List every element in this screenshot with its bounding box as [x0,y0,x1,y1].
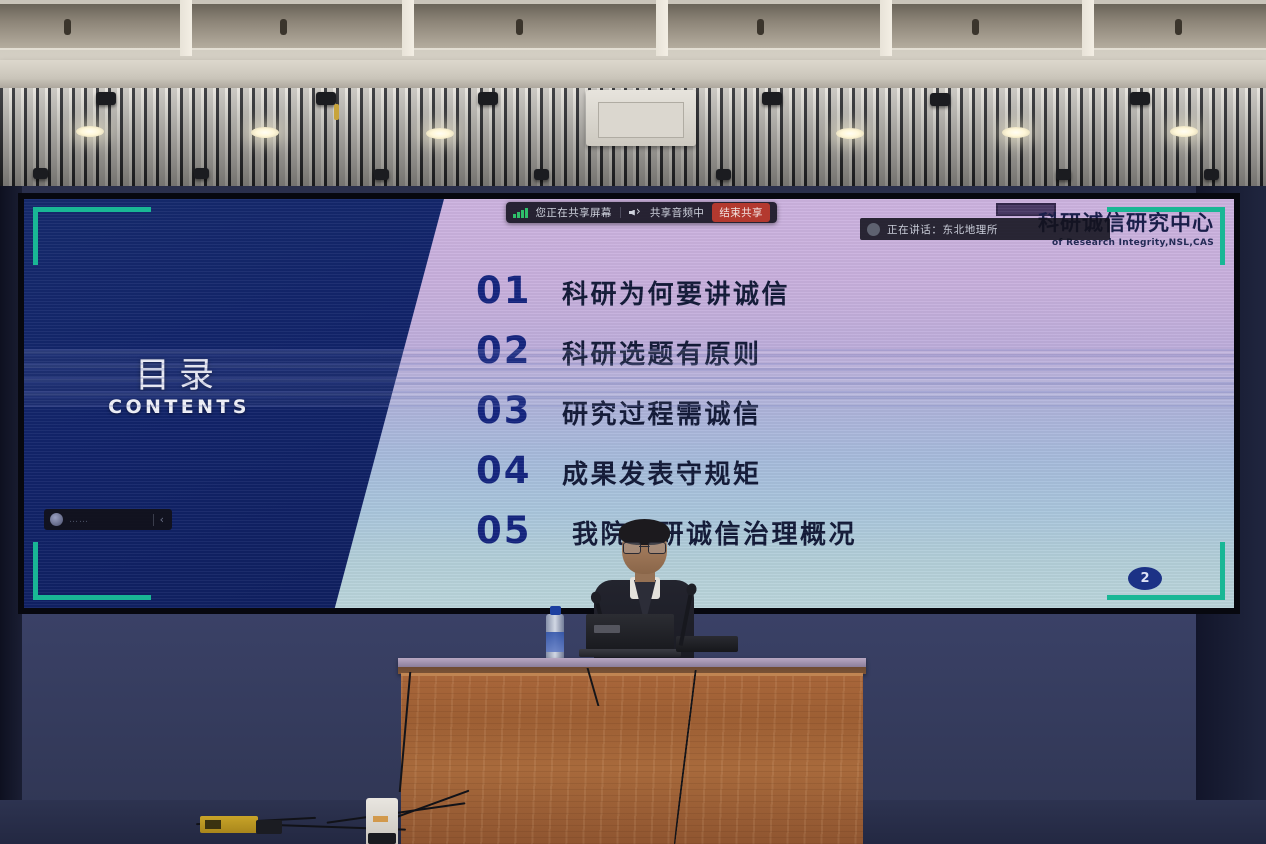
desk-device [676,636,738,652]
ceiling-spotlight [478,92,498,105]
ceiling-spotlight [374,169,389,180]
ceiling-opening [0,4,180,50]
ceiling-spotlight [930,93,950,106]
opening-divider [402,0,414,56]
toc-title-block: 目录 CONTENTS [24,347,334,418]
corner-bracket-top-right [1107,207,1225,265]
screen-share-status-bar: 您正在共享屏幕 共享音频中 结束共享 [506,202,777,223]
corner-bracket-top-left [33,207,151,265]
user-avatar-icon [867,223,880,236]
toc-number: 04 [476,449,562,492]
corner-bracket-bottom-right [1107,542,1225,600]
ceiling-spotlight [1204,169,1219,180]
opening-divider [1082,0,1094,56]
toc-number: 05 [476,509,562,552]
ceiling-openings [0,0,1266,56]
floating-toolbar-label: …… [69,515,147,525]
ceiling-spotlight [96,92,116,105]
toc-item-02: 02 科研选题有原则 [476,329,1076,369]
ceiling-spotlight [762,92,782,105]
toc-number: 03 [476,389,562,432]
air-conditioner-vent-icon [586,90,696,146]
opening-divider [180,0,192,56]
laptop [586,614,674,650]
lecture-hall-scene: 目录 CONTENTS 01 科研为何要讲诚信 02 科研选题有原则 03 研究… [0,0,1266,844]
toc-label: 成果发表守规矩 [562,454,762,491]
active-speaker-bar: 正在讲话：东北地理所 [860,218,1110,240]
ceiling-opening [892,4,1082,50]
media-status-icon[interactable] [50,513,63,526]
toc-item-01: 01 科研为何要讲诚信 [476,269,1076,309]
ceiling-downlight [836,128,864,139]
divider [153,514,154,526]
active-speaker-label: 正在讲话：东北地理所 [887,222,998,237]
toc-title-cn: 目录 [24,347,334,398]
desk-front-panel [401,673,863,844]
opening-divider [656,0,668,56]
toc-item-04: 04 成果发表守规矩 [476,449,1076,489]
device-label [373,816,388,822]
toc-item-05: 05 我院科研诚信治理概况 [476,509,1076,549]
bottle-label [546,632,564,652]
floor-speaker-device [366,798,398,844]
opening-divider [880,0,892,56]
ceiling-spotlight [33,168,48,179]
stop-share-button[interactable]: 结束共享 [712,203,770,222]
laptop-sticker [594,625,620,633]
bottle-cap [550,606,561,615]
ceiling-spotlight [1056,169,1071,180]
power-strip [200,816,258,833]
ceiling-opening [414,4,656,50]
presenter-glasses-icon [623,542,666,552]
ceiling-downlight [251,127,279,138]
ceiling-opening [1094,4,1266,50]
ceiling-opening [192,4,402,50]
toc-number: 02 [476,329,562,372]
chevron-left-icon[interactable]: ‹ [160,513,166,526]
ceiling-spotlight [1130,92,1150,105]
toc-list: 01 科研为何要讲诚信 02 科研选题有原则 03 研究过程需诚信 04 成果发… [476,269,1076,569]
ceiling-downlight [76,126,104,137]
divider [620,207,621,218]
ceiling-downlight [426,128,454,139]
sprinkler-head-icon [334,104,339,120]
ceiling-opening [668,4,880,50]
ceiling-downlight [1170,126,1198,137]
audio-status-label: 共享音频中 [650,205,705,220]
floating-toolbar[interactable]: …… ‹ [44,509,172,530]
signal-bars-icon [513,208,528,218]
ceiling-spotlight [534,169,549,180]
desk-top-surface [398,658,866,674]
podium-desk [398,658,866,844]
ceiling-spotlight [716,169,731,180]
ceiling-downlight [1002,127,1030,138]
ceiling-spotlight [194,168,209,179]
corner-bracket-bottom-left [33,542,151,600]
power-adapter [256,820,282,834]
toc-title-en: CONTENTS [24,396,334,418]
toc-label: 研究过程需诚信 [562,394,762,431]
ceiling-spotlight [316,92,336,105]
toc-label: 科研选题有原则 [562,334,762,371]
speaker-icon [629,208,642,218]
toc-label: 科研为何要讲诚信 [562,274,790,311]
share-status-label: 您正在共享屏幕 [536,205,612,220]
toc-number: 01 [476,269,562,312]
ceiling-beam [0,60,1266,90]
toc-item-03: 03 研究过程需诚信 [476,389,1076,429]
